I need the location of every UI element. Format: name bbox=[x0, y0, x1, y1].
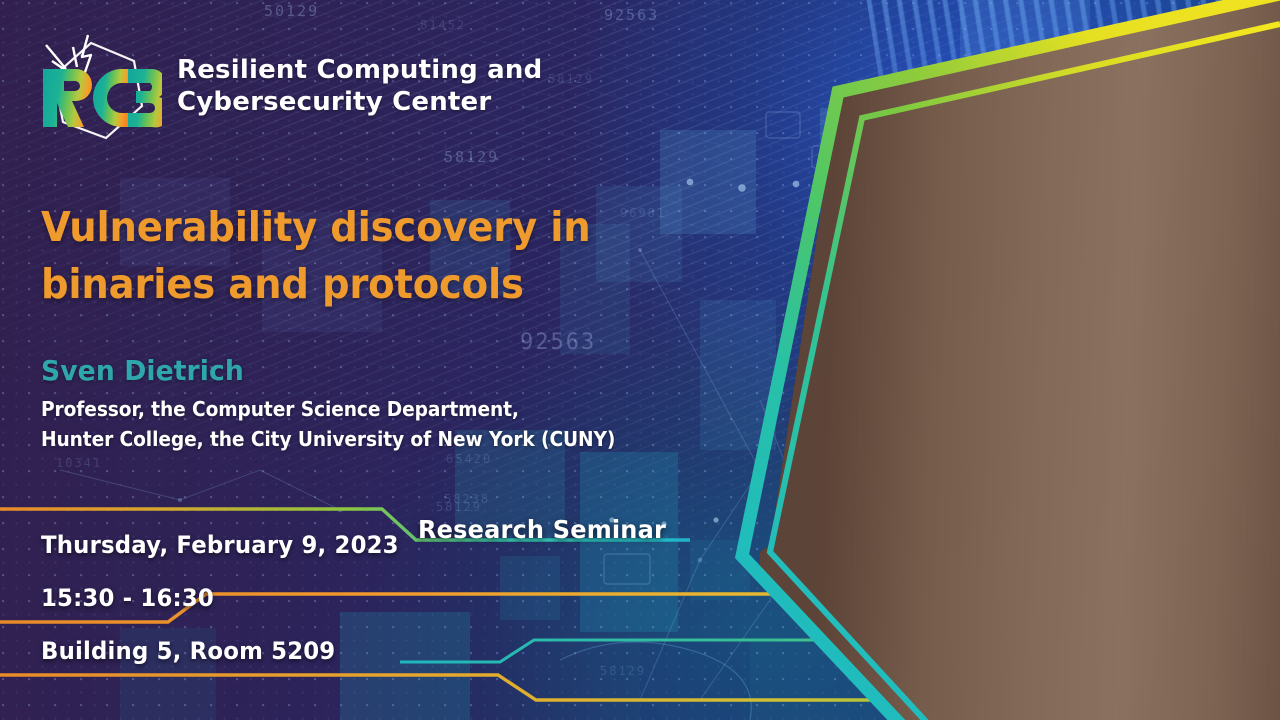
talk-title-line2: binaries and protocols bbox=[41, 256, 605, 313]
event-location: Building 5, Room 5209 bbox=[41, 637, 335, 665]
event-kind: Research Seminar bbox=[418, 515, 666, 544]
seminar-poster: 50129 92563 81452 58129 58129 92563 5812… bbox=[0, 0, 1280, 720]
org-name-line1: Resilient Computing and bbox=[177, 55, 542, 87]
rc3-hexagon-lightning-logo bbox=[30, 27, 162, 147]
event-time: 15:30 - 16:30 bbox=[41, 584, 214, 612]
event-date: Thursday, February 9, 2023 bbox=[41, 531, 399, 559]
talk-title: Vulnerability discovery in binaries and … bbox=[41, 199, 605, 312]
brand-logo: Resilient Computing and Cybersecurity Ce… bbox=[30, 27, 542, 147]
org-name-line2: Cybersecurity Center bbox=[177, 87, 542, 119]
org-name: Resilient Computing and Cybersecurity Ce… bbox=[177, 55, 542, 118]
speaker-block: Sven Dietrich Professor, the Computer Sc… bbox=[41, 354, 681, 454]
speaker-affiliation-line1: Professor, the Computer Science Departme… bbox=[41, 394, 636, 424]
talk-title-line1: Vulnerability discovery in bbox=[41, 199, 605, 256]
speaker-name: Sven Dietrich bbox=[41, 354, 649, 388]
speaker-affiliation: Professor, the Computer Science Departme… bbox=[41, 394, 636, 454]
speaker-affiliation-line2: Hunter College, the City University of N… bbox=[41, 424, 636, 454]
